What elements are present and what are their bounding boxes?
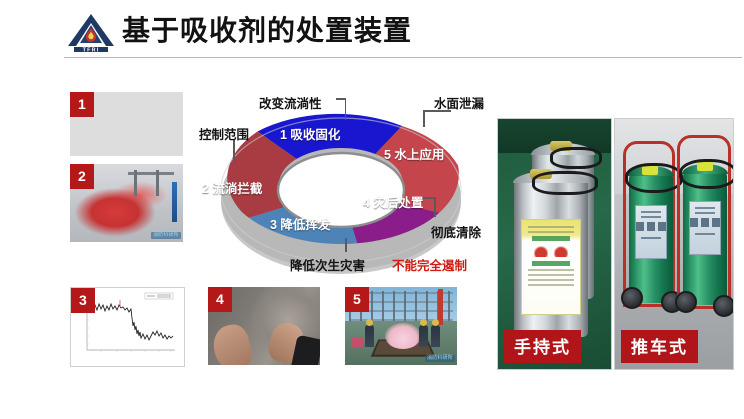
photo-tile-2: 2 消防科研所 — [70, 164, 183, 242]
trolley-left-hose — [625, 163, 683, 193]
donut-label-1: 1 吸收固化 — [280, 124, 340, 143]
slide-header: TFRI 基于吸收剂的处置装置 — [0, 0, 744, 64]
callout-water-spill: 水面泄漏 — [434, 93, 484, 112]
process-donut-chart: 1 吸收固化 2 流淌拦截 3 降低挥发 4 灾后处置 5 水上应用 — [196, 86, 486, 282]
photo-tile-5: 5 消防科研所 — [345, 287, 457, 365]
photo-4-badge: 4 — [208, 287, 232, 312]
photo-5-firefighter-1 — [365, 325, 374, 347]
photo-tile-1: 1 — [70, 92, 183, 156]
handheld-extinguisher-front — [514, 177, 588, 337]
donut-label-5: 5 水上应用 — [384, 144, 444, 163]
leader-control-range-v — [233, 140, 235, 162]
photo-tile-3: 3 — [70, 287, 185, 367]
trolley-extinguisher-right — [683, 169, 727, 305]
photo-2-blue-marker — [172, 182, 177, 222]
callout-control-range: 控制范围 — [199, 124, 249, 143]
logo-wordmark: TFRI — [83, 47, 100, 53]
donut-label-4: 4 灾后处置 — [363, 192, 423, 211]
trolley-caption: 推车式 — [621, 330, 698, 363]
photo-2-post-left — [134, 170, 137, 196]
photo-5-foam — [385, 323, 421, 349]
leader-change-flow-v — [345, 98, 347, 120]
trolley-right-wheel — [675, 291, 697, 313]
photo-3-badge: 3 — [71, 288, 95, 313]
trolley-left-label — [635, 205, 667, 259]
callout-thorough-cleanup: 彻底清除 — [431, 222, 481, 241]
page-title: 基于吸收剂的处置装置 — [122, 13, 412, 49]
leader-secondary-v — [345, 238, 347, 252]
title-divider — [64, 57, 742, 58]
trolley-left-wheel — [621, 287, 643, 309]
photo-2-badge: 2 — [70, 164, 94, 189]
handheld-product-label — [521, 219, 582, 315]
callout-reduce-secondary: 降低次生灾害 — [290, 255, 365, 274]
callout-change-flow: 改变流淌性 — [259, 93, 322, 112]
tfri-logo: TFRI — [64, 12, 118, 54]
trolley-right-hose — [679, 159, 734, 189]
leader-cleanup-v — [434, 197, 436, 217]
photo-5-firefighter-3 — [431, 325, 440, 347]
photo-2-watermark: 消防科研所 — [151, 232, 181, 240]
photo-5-badge: 5 — [345, 287, 369, 312]
photo-tile-4: 4 — [208, 287, 320, 365]
photo-5-firefighter-2 — [419, 325, 428, 347]
trolley-right-label — [689, 201, 721, 255]
photo-5-watermark: 消防科研所 — [425, 355, 455, 363]
donut-label-2: 2 流淌拦截 — [202, 178, 262, 197]
photo-5-red-pipe — [438, 289, 443, 325]
donut-label-3: 3 降低挥发 — [270, 214, 330, 233]
handheld-front-hose — [532, 171, 598, 195]
equipment-photo-handheld: 手持式 — [497, 118, 612, 370]
handheld-caption: 手持式 — [504, 330, 581, 363]
photo-2-post-right — [156, 170, 159, 196]
leader-water-spill-v — [423, 110, 425, 127]
photo-1-badge: 1 — [70, 92, 94, 117]
handheld-rear-hose — [550, 147, 602, 169]
equipment-photo-trolley: 推车式 — [614, 118, 734, 370]
callout-cannot-fully-contain: 不能完全遏制 — [392, 255, 467, 274]
trolley-right-wheel-2 — [713, 295, 734, 317]
photo-5-equipment-box — [351, 337, 363, 347]
